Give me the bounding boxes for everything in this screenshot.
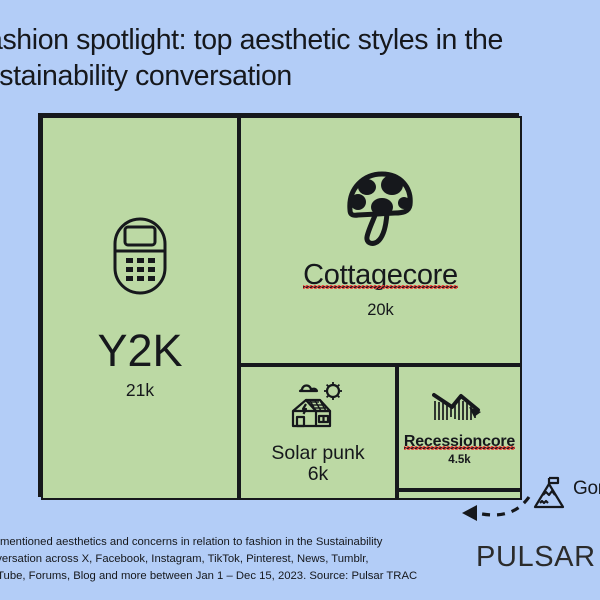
treemap-cell-value: 4.5k	[448, 454, 470, 467]
gorpcore-value: 3k	[573, 499, 600, 515]
treemap-chart: Y2K 21k Cottagecore 20k	[38, 113, 519, 497]
pulsar-logo: PULSAR	[476, 541, 596, 574]
footer-note: Top-mentioned aesthetics and concerns in…	[0, 534, 478, 585]
treemap-cell-cottagecore[interactable]: Cottagecore 20k	[239, 116, 522, 365]
gorpcore-label: Gorpcore	[573, 479, 600, 499]
page-title: Fashion spotlight: top aesthetic styles …	[0, 22, 600, 95]
solar-house-icon	[288, 380, 348, 435]
mushroom-icon	[338, 161, 424, 252]
mountain-flag-icon	[532, 476, 568, 517]
declining-chart-icon	[432, 387, 488, 430]
slide-canvas: Fashion spotlight: top aesthetic styles …	[0, 0, 600, 600]
treemap-cell-label: Recessioncore	[404, 434, 515, 451]
treemap-cell-label: Solar punk	[271, 443, 364, 463]
treemap-cell-value: 20k	[367, 301, 394, 320]
treemap-cell-recessioncore[interactable]: Recessioncore 4.5k	[397, 365, 522, 490]
treemap-cell-label: Cottagecore	[303, 260, 458, 290]
gorpcore-callout[interactable]: Gorpcore 3k	[532, 476, 600, 517]
treemap-cell-solar-punk[interactable]: Solar punk 6k	[239, 365, 397, 500]
treemap-cell-value: 21k	[126, 380, 154, 400]
treemap-cell-y2k[interactable]: Y2K 21k	[41, 116, 239, 500]
flip-phone-icon	[112, 216, 168, 301]
treemap-cell-label: Y2K	[97, 327, 182, 374]
callout-arrow-icon	[455, 492, 535, 529]
treemap-cell-value: 6k	[308, 463, 329, 485]
